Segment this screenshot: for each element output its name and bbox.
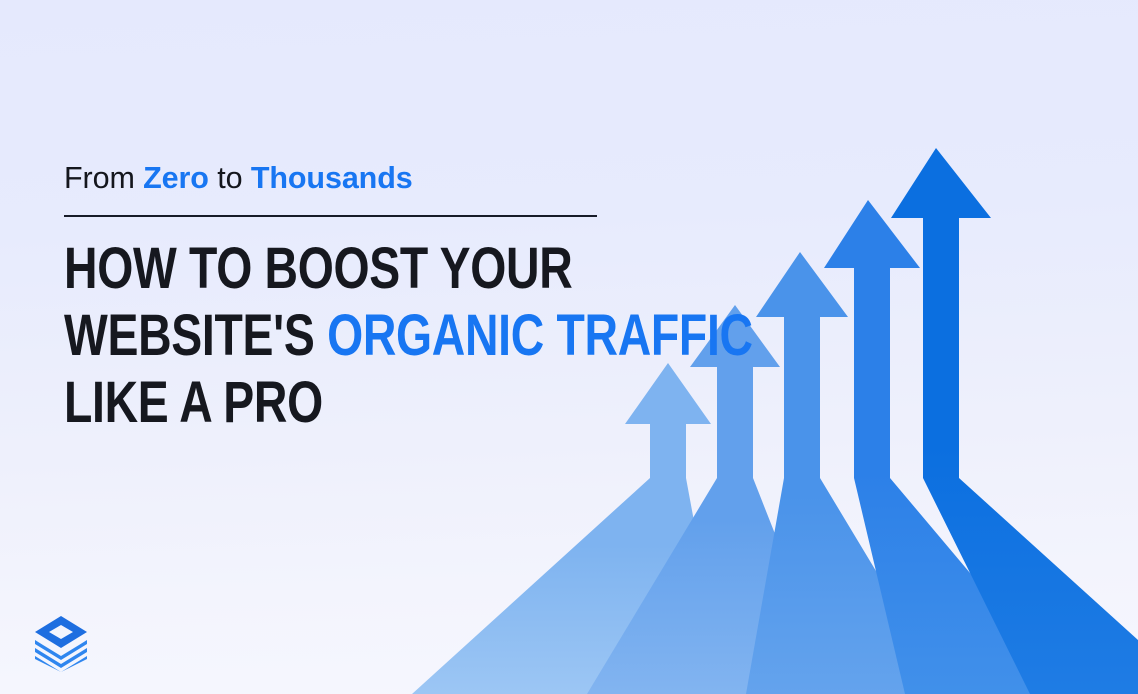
page-title: HOW TO BOOST YOUR WEBSITE'S ORGANIC TRAF… xyxy=(64,235,656,436)
headline-line-2-highlight: ORGANIC TRAFFIC xyxy=(327,303,753,368)
eyebrow-highlight-zero: Zero xyxy=(143,161,209,195)
headline-group: From Zero to Thousands HOW TO BOOST YOUR… xyxy=(64,163,664,436)
headline-line-3: LIKE A PRO xyxy=(64,369,656,436)
headline-line-2-plain: WEBSITE'S xyxy=(64,303,327,368)
divider-rule xyxy=(64,215,597,217)
arrow-3 xyxy=(746,252,950,694)
stacked-layers-logo-icon[interactable] xyxy=(33,614,89,672)
headline-line-2: WEBSITE'S ORGANIC TRAFFIC xyxy=(64,302,656,369)
logo-diamond-ring xyxy=(35,616,87,648)
headline-line-1: HOW TO BOOST YOUR xyxy=(64,235,656,302)
eyebrow-highlight-thousands: Thousands xyxy=(251,161,413,195)
eyebrow-part-2: to xyxy=(209,161,251,195)
eyebrow-text: From Zero to Thousands xyxy=(64,163,664,194)
arrow-5 xyxy=(891,148,1138,694)
banner-canvas: From Zero to Thousands HOW TO BOOST YOUR… xyxy=(0,0,1138,694)
arrow-4 xyxy=(824,200,1072,694)
eyebrow-part-1: From xyxy=(64,161,143,195)
